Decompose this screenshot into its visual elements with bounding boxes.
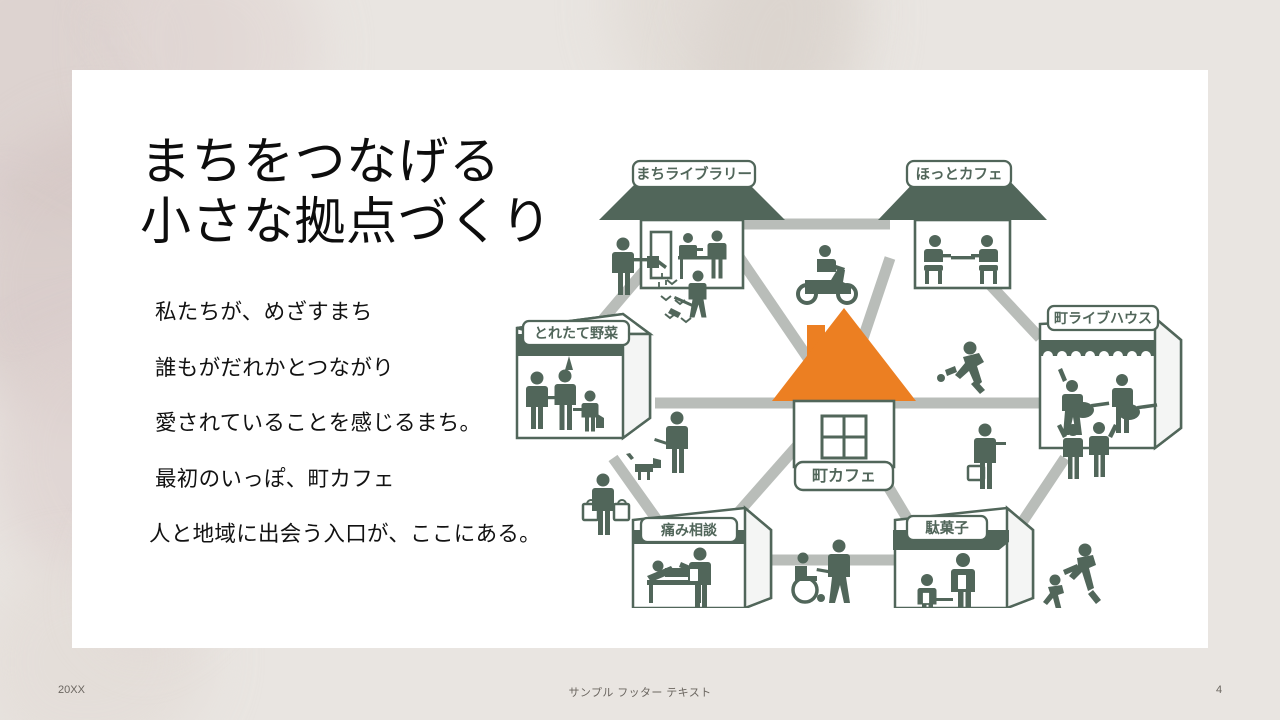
diagram-node-hot-cafe[interactable]: ほっとカフェ	[878, 161, 1047, 288]
child-and-adult-play-icon	[1043, 544, 1101, 609]
node-label-text: 駄菓子	[925, 519, 969, 537]
slide-footer: 20XX サンプル フッター テキスト 4	[0, 672, 1280, 712]
shop-side	[745, 508, 771, 608]
shop-side	[623, 334, 650, 438]
footer-date: 20XX	[58, 684, 85, 696]
community-hub-diagram: まちライブラリー ほっとカフェ	[495, 128, 1195, 608]
page-title: まちをつなげる 小さな拠点づくり	[140, 132, 552, 252]
node-label-text: まちライブラリー	[636, 165, 752, 183]
orange-roof	[772, 308, 916, 401]
shop-side	[1155, 318, 1181, 448]
awning-band	[1040, 340, 1155, 356]
footer-text: サンプル フッター テキスト	[568, 684, 711, 700]
scooter-rider-icon	[798, 245, 856, 303]
diagram-node-dagashi[interactable]: 駄菓子	[893, 508, 1033, 608]
briefcase-person-icon	[968, 424, 1006, 490]
node-label-text: とれたて野菜	[534, 325, 619, 341]
jogging-person-icon	[937, 342, 985, 395]
node-label-text: 痛み相談	[660, 522, 718, 538]
shopping-bags-person-icon	[583, 474, 629, 536]
diagram-node-toretate-yasai[interactable]: とれたて野菜	[517, 314, 650, 438]
node-label-text: ほっとカフェ	[916, 166, 1003, 183]
bookshelf-icon	[651, 232, 671, 278]
wheelchair-pair-icon	[793, 540, 850, 604]
shop-side	[1007, 508, 1033, 608]
diagram-node-itami-sodan[interactable]: 痛み相談	[633, 508, 771, 608]
node-label-text: 町ライブハウス	[1054, 310, 1152, 326]
footer-page-number: 4	[1216, 684, 1222, 696]
center-label-text: 町カフェ	[812, 467, 876, 485]
